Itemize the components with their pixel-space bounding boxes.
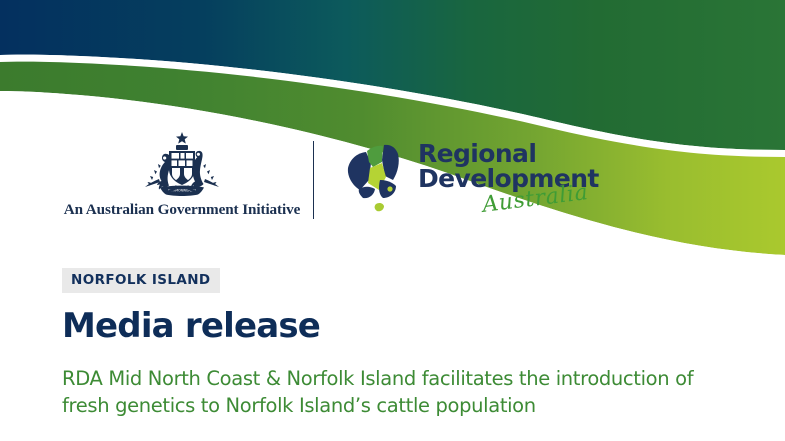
logo-divider xyxy=(313,141,314,219)
australian-government-logo: COMMONWEALTH An Australian Government In… xyxy=(58,130,306,226)
article-subtitle: RDA Mid North Coast & Norfolk Island fac… xyxy=(62,365,730,420)
section-badge: NORFOLK ISLAND xyxy=(62,268,220,293)
page-title: Media release xyxy=(62,309,742,345)
rda-wordmark: Regional Development Australia xyxy=(418,138,623,222)
commonwealth-coat-of-arms-icon: COMMONWEALTH xyxy=(140,130,224,198)
content-area: NORFOLK ISLAND Media release RDA Mid Nor… xyxy=(62,268,742,420)
government-initiative-caption: An Australian Government Initiative xyxy=(58,201,306,219)
logo-row: COMMONWEALTH An Australian Government In… xyxy=(58,130,618,226)
regional-development-australia-logo: Regional Development Australia xyxy=(346,138,621,224)
australia-map-icon xyxy=(346,140,412,214)
rda-line-regional: Regional xyxy=(418,141,536,166)
